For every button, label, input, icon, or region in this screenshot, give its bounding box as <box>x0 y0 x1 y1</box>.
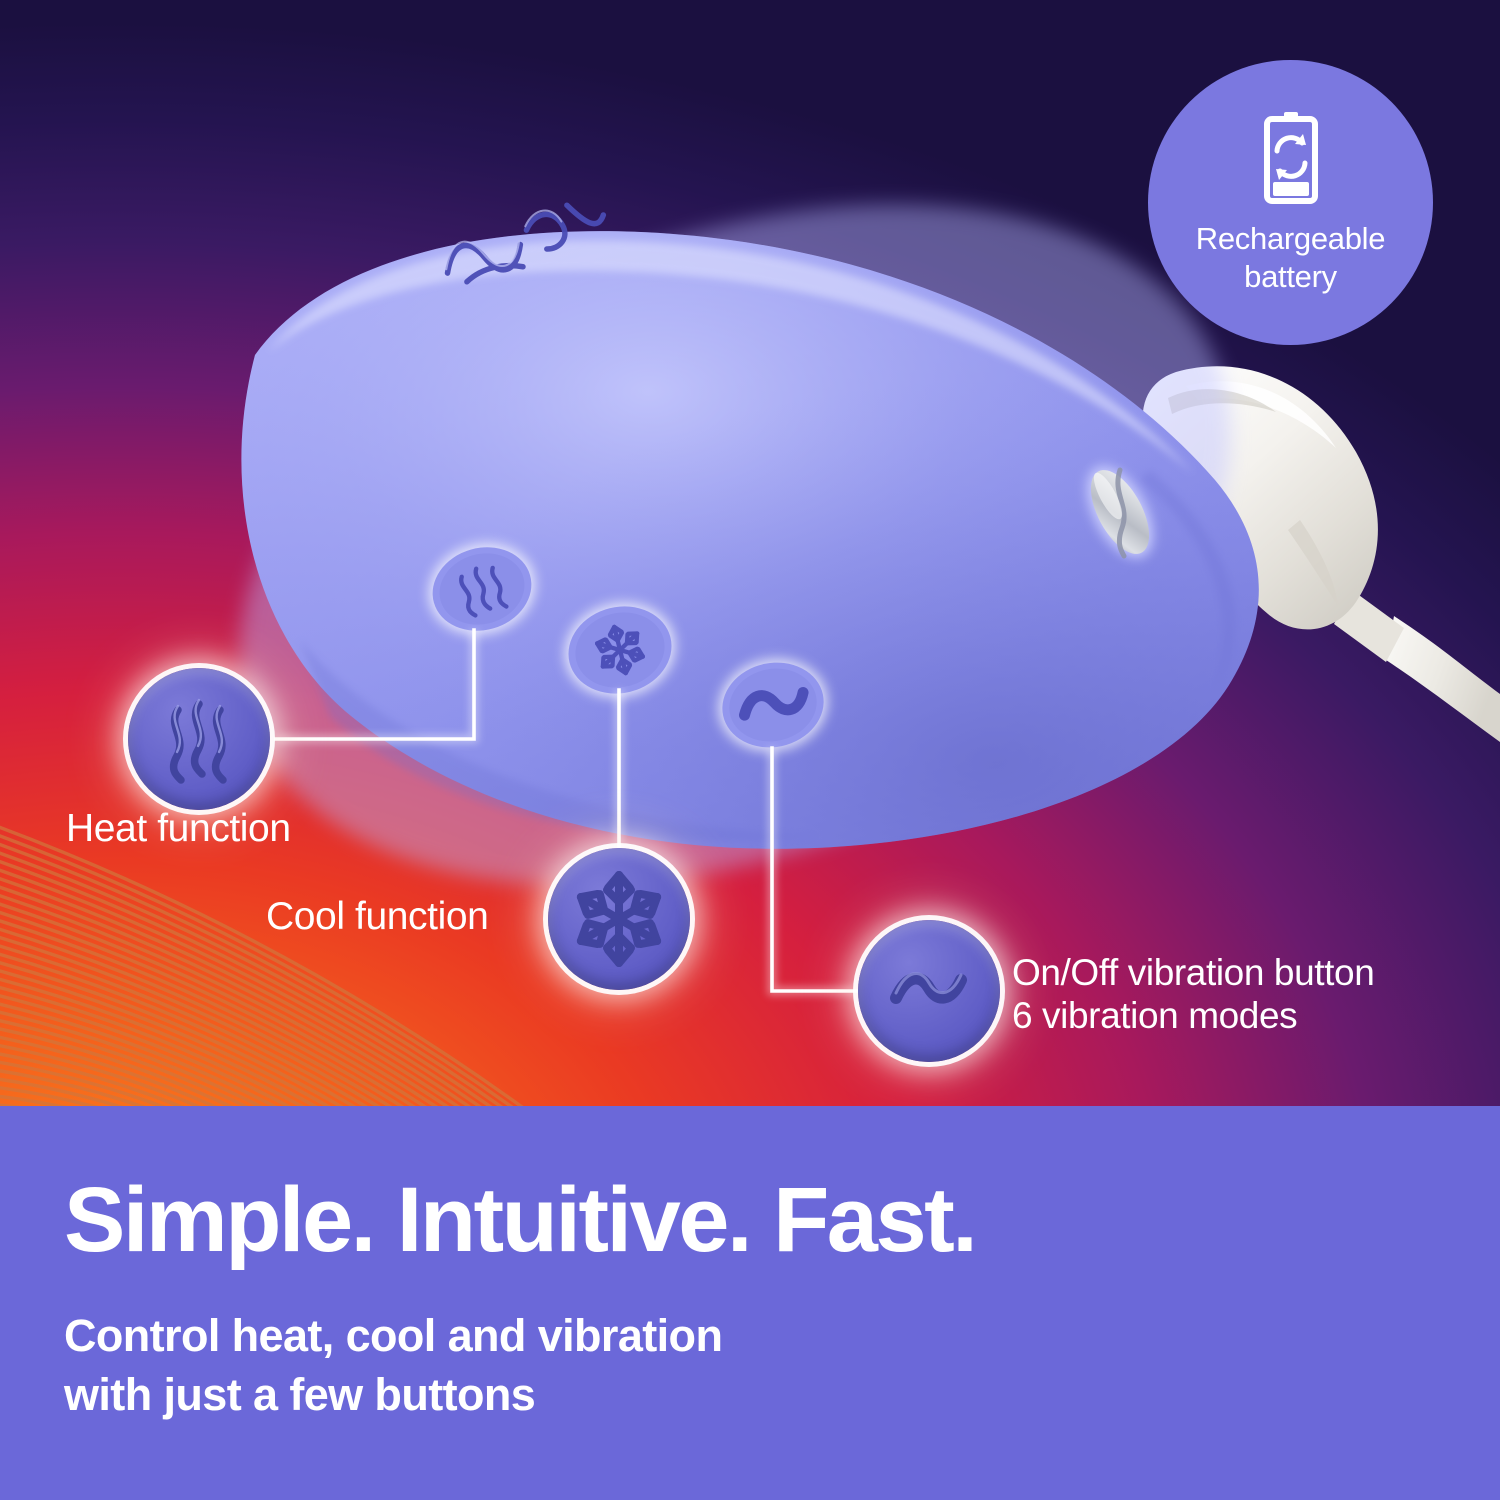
rechargeable-battery-text: Rechargeable battery <box>1196 220 1385 296</box>
callout-vibration-label-line1: On/Off vibration button <box>1012 952 1374 995</box>
callout-heat[interactable] <box>128 668 270 810</box>
heat-connector <box>276 630 474 739</box>
rechargeable-battery-badge[interactable]: Rechargeable battery <box>1148 60 1433 345</box>
vibration-connector <box>772 748 856 991</box>
rechargeable-battery-icon <box>1259 110 1323 206</box>
badge-line2: battery <box>1196 258 1385 296</box>
callout-vibration[interactable] <box>858 920 1000 1062</box>
callout-cool-label: Cool function <box>266 894 488 939</box>
page-headline: Simple. Intuitive. Fast. <box>64 1174 1444 1266</box>
snowflake-icon <box>548 848 690 990</box>
callout-cool[interactable] <box>548 848 690 990</box>
heat-waves-icon <box>128 668 270 810</box>
badge-line1: Rechargeable <box>1196 220 1385 258</box>
callout-vibration-label: On/Off vibration button 6 vibration mode… <box>1012 952 1374 1038</box>
page-subtext-line1: Control heat, cool and vibration <box>64 1307 1164 1366</box>
wave-tilde-icon <box>858 920 1000 1062</box>
message-panel <box>0 1106 1500 1500</box>
product-feature-graphic: Heat function <box>0 0 1500 1500</box>
callout-heat-label: Heat function <box>66 806 291 851</box>
page-subtext: Control heat, cool and vibration with ju… <box>64 1307 1164 1424</box>
page-subtext-line2: with just a few buttons <box>64 1366 1164 1425</box>
callout-vibration-label-line2: 6 vibration modes <box>1012 995 1374 1038</box>
